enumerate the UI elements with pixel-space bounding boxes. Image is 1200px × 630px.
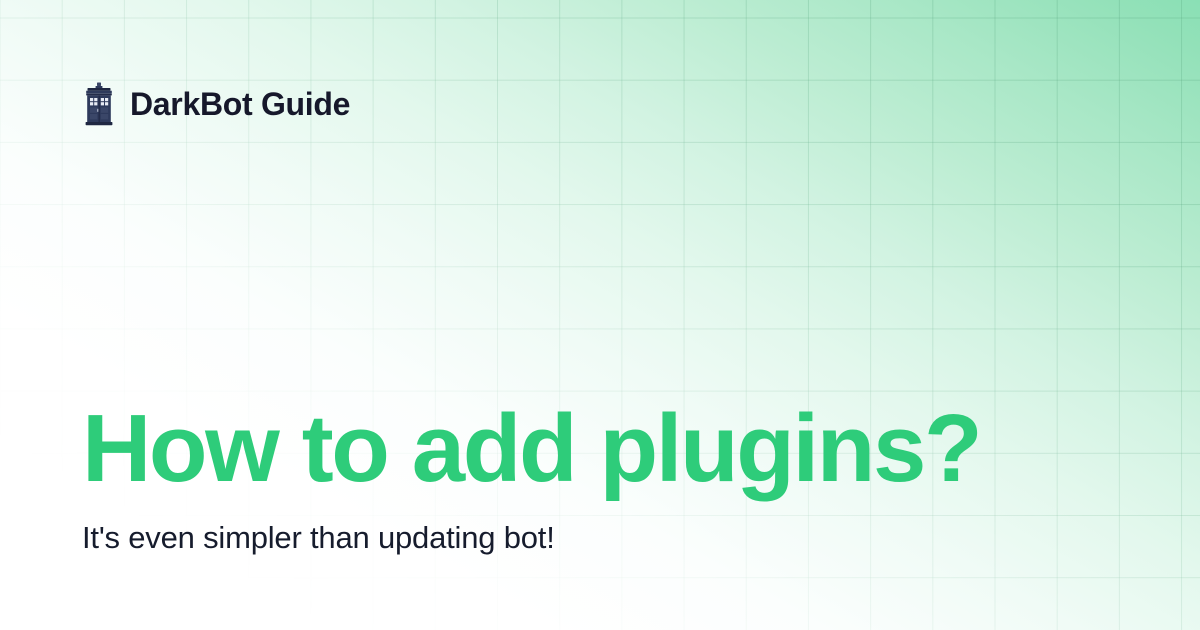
- card-content: DarkBot Guide How to add plugins? It's e…: [0, 0, 1200, 630]
- headline-block: How to add plugins? It's even simpler th…: [82, 399, 1122, 558]
- police-box-tardis-icon: [82, 82, 116, 126]
- social-share-card: DarkBot Guide How to add plugins? It's e…: [0, 0, 1200, 630]
- brand-title: DarkBot Guide: [130, 88, 350, 120]
- page-subtitle: It's even simpler than updating bot!: [82, 519, 1122, 558]
- page-title: How to add plugins?: [82, 399, 1122, 499]
- brand-header: DarkBot Guide: [82, 82, 350, 126]
